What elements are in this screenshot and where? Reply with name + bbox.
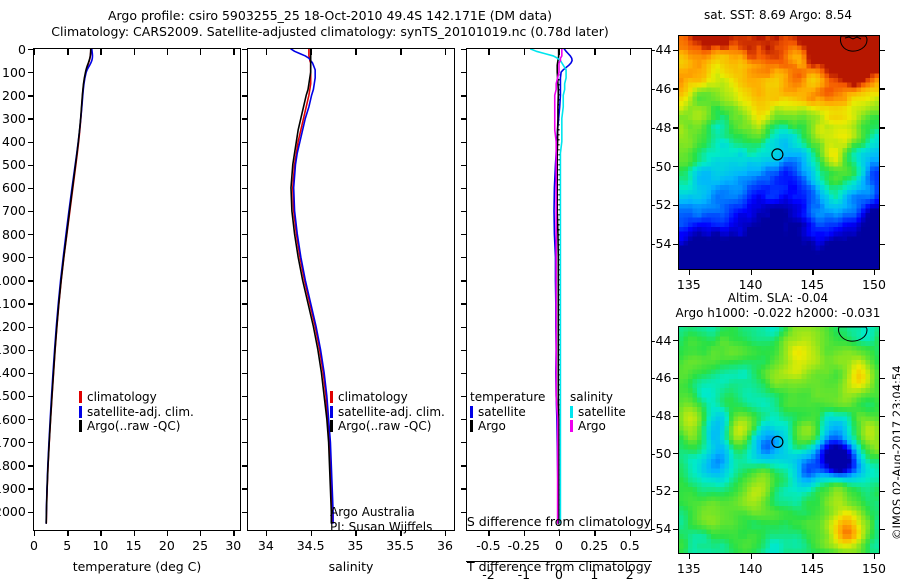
- attribution-pi: PI: Susan Wijffels: [330, 520, 432, 535]
- salinity-profile-panel: [247, 48, 455, 531]
- legend-swatch: [79, 391, 82, 403]
- tick-mark: [134, 530, 135, 536]
- tick-mark: [524, 530, 525, 536]
- pressure-tick-label: 200: [2, 88, 26, 103]
- tick-mark: [630, 49, 631, 55]
- salinity-tick-label: 35.5: [386, 538, 414, 553]
- s-difference-tick-label: 0: [555, 538, 563, 553]
- pressure-tick-label: 900: [2, 250, 26, 265]
- tick-mark: [874, 269, 875, 275]
- legend-item: satellite-adj. clim.: [330, 405, 445, 420]
- tick-mark: [673, 491, 679, 492]
- tick-mark: [673, 244, 679, 245]
- legend-label: Argo(..raw -QC): [338, 419, 431, 434]
- tick-mark: [28, 442, 34, 443]
- tick-mark: [689, 269, 690, 275]
- pressure-tick-label: 1600: [0, 412, 26, 427]
- tick-mark: [689, 553, 690, 559]
- tick-mark: [673, 88, 679, 89]
- legend-item: climatology: [330, 390, 445, 405]
- sla-map-title-line-2: Argo h1000: -0.022 h2000: -0.031: [658, 306, 898, 321]
- legend-swatch: [79, 406, 82, 418]
- tick-mark: [28, 72, 34, 73]
- tick-mark: [28, 396, 34, 397]
- legend-label: satellite-adj. clim.: [338, 405, 445, 420]
- tick-mark: [594, 49, 595, 55]
- tick-mark: [673, 50, 679, 51]
- sst-map-panel: [678, 35, 880, 270]
- sla-map-title: Altim. SLA: -0.04 Argo h1000: -0.022 h20…: [658, 291, 898, 321]
- tick-mark: [812, 553, 813, 559]
- temperature-tick-label: 5: [63, 538, 71, 553]
- tick-mark: [233, 530, 234, 536]
- tick-mark: [445, 49, 446, 55]
- longitude-tick-label: 145: [800, 277, 824, 292]
- tick-mark: [28, 303, 34, 304]
- tick-mark: [28, 373, 34, 374]
- tick-mark: [28, 234, 34, 235]
- t-difference-axis-label: T difference from climatology: [462, 559, 656, 574]
- sla-map-title-line-1: Altim. SLA: -0.04: [658, 291, 898, 306]
- tick-mark: [28, 118, 34, 119]
- tick-mark: [559, 530, 560, 536]
- tick-mark: [874, 553, 875, 559]
- sst-map-title: sat. SST: 8.69 Argo: 8.54: [668, 8, 888, 23]
- tick-mark: [28, 350, 34, 351]
- tick-mark: [445, 530, 446, 536]
- temperature-tick-label: 25: [192, 538, 208, 553]
- longitude-tick-label: 135: [677, 277, 701, 292]
- tick-mark: [673, 340, 679, 341]
- pressure-tick-label: 600: [2, 180, 26, 195]
- temperature-profile-panel: [33, 48, 241, 531]
- legend-label: satellite-adj. clim.: [87, 405, 194, 420]
- temperature-tick-label: 10: [92, 538, 108, 553]
- tick-mark: [233, 49, 234, 55]
- tick-mark: [879, 166, 885, 167]
- salinity-axis-label: salinity: [247, 559, 455, 574]
- pressure-tick-label: 1100: [0, 296, 26, 311]
- tick-mark: [28, 142, 34, 143]
- longitude-tick-label: 140: [739, 561, 763, 576]
- tick-mark: [879, 529, 885, 530]
- s-difference-tick-label: -0.25: [508, 538, 540, 553]
- salinity-legend: climatologysatellite-adj. clim.Argo(..ra…: [330, 390, 445, 434]
- pressure-tick-label: 1800: [0, 458, 26, 473]
- temperature-tick-label: 15: [126, 538, 142, 553]
- tick-mark: [100, 530, 101, 536]
- temperature-tick-label: 0: [30, 538, 38, 553]
- temperature-legend: climatologysatellite-adj. clim.Argo(..ra…: [79, 390, 194, 434]
- tick-mark: [28, 95, 34, 96]
- pressure-tick-label: 800: [2, 227, 26, 242]
- s-difference-tick-label: 0.25: [580, 538, 608, 553]
- pressure-tick-label: 100: [2, 65, 26, 80]
- pressure-tick-label: 1200: [0, 319, 26, 334]
- tick-mark: [879, 205, 885, 206]
- legend-header-salinity: salinity: [570, 390, 626, 405]
- pressure-tick-label: 1700: [0, 435, 26, 450]
- title-line-1: Argo profile: csiro 5903255_25 18-Oct-20…: [0, 8, 660, 24]
- tick-mark: [559, 49, 560, 55]
- legend-item: climatology: [79, 390, 194, 405]
- tick-mark: [28, 465, 34, 466]
- salinity-tick-label: 34.5: [297, 538, 325, 553]
- latitude-tick-label: -54: [651, 236, 671, 251]
- legend-item: Argo(..raw -QC): [79, 419, 194, 434]
- tick-mark: [311, 530, 312, 536]
- latitude-tick-label: -48: [651, 120, 671, 135]
- tick-mark: [311, 49, 312, 55]
- legend-swatch: [79, 420, 82, 432]
- legend-item-sal-satellite: satellite: [570, 405, 626, 420]
- tick-mark: [28, 211, 34, 212]
- title-line-2: Climatology: CARS2009. Satellite-adjuste…: [0, 24, 660, 40]
- tick-mark: [28, 488, 34, 489]
- tick-mark: [34, 49, 35, 55]
- pressure-tick-label: 1000: [0, 273, 26, 288]
- legend-swatch-sal-satellite: [570, 406, 573, 418]
- pressure-tick-label: 1900: [0, 481, 26, 496]
- legend-label-sal-argo: Argo: [578, 419, 606, 434]
- tick-mark: [524, 49, 525, 55]
- latitude-tick-label: -50: [651, 446, 671, 461]
- tick-mark: [28, 257, 34, 258]
- legend-header-temperature: temperature: [470, 390, 545, 405]
- tick-mark: [266, 530, 267, 536]
- tick-mark: [879, 244, 885, 245]
- tick-mark: [879, 88, 885, 89]
- tick-mark: [400, 49, 401, 55]
- copyright-label: ©IMOS 02-Aug-2017 23:04:54: [890, 365, 900, 540]
- legend-item-sal-argo: Argo: [570, 419, 626, 434]
- temperature-tick-label: 20: [159, 538, 175, 553]
- legend-label: climatology: [87, 390, 157, 405]
- pressure-tick-label: 700: [2, 203, 26, 218]
- tick-mark: [28, 419, 34, 420]
- attribution-block: Argo Australia PI: Susan Wijffels: [330, 505, 432, 534]
- longitude-tick-label: 145: [800, 561, 824, 576]
- legend-item-temp-satellite: satellite: [470, 405, 545, 420]
- tick-mark: [28, 188, 34, 189]
- salinity-profile-plot: [248, 49, 454, 530]
- salinity-tick-label: 35: [347, 538, 363, 553]
- tick-mark: [28, 327, 34, 328]
- latitude-tick-label: -50: [651, 159, 671, 174]
- longitude-tick-label: 140: [739, 277, 763, 292]
- tick-mark: [751, 553, 752, 559]
- temperature-profile-plot: [34, 49, 240, 530]
- tick-mark: [630, 530, 631, 536]
- legend-label: climatology: [338, 390, 408, 405]
- salinity-tick-label: 34: [258, 538, 274, 553]
- longitude-tick-label: 135: [677, 561, 701, 576]
- pressure-tick-label: 1400: [0, 365, 26, 380]
- tick-mark: [28, 512, 34, 513]
- tick-mark: [879, 453, 885, 454]
- pressure-tick-label: 500: [2, 157, 26, 172]
- tick-mark: [673, 166, 679, 167]
- latitude-tick-label: -48: [651, 408, 671, 423]
- legend-item-temp-argo: Argo: [470, 419, 545, 434]
- s-difference-tick-label: 0.5: [620, 538, 640, 553]
- legend-swatch: [330, 391, 333, 403]
- tick-mark: [673, 529, 679, 530]
- latitude-tick-label: -46: [651, 81, 671, 96]
- latitude-tick-label: -46: [651, 370, 671, 385]
- latitude-tick-label: -44: [651, 42, 671, 57]
- page-title: Argo profile: csiro 5903255_25 18-Oct-20…: [0, 8, 660, 40]
- tick-mark: [879, 491, 885, 492]
- legend-item: Argo(..raw -QC): [330, 419, 445, 434]
- tick-mark: [167, 49, 168, 55]
- longitude-tick-label: 150: [862, 277, 886, 292]
- tick-mark: [266, 49, 267, 55]
- tick-mark: [879, 127, 885, 128]
- tick-mark: [673, 453, 679, 454]
- tick-mark: [67, 530, 68, 536]
- difference-legend-temperature: temperature satellite Argo: [470, 390, 545, 434]
- tick-mark: [812, 269, 813, 275]
- pressure-tick-label: 1500: [0, 388, 26, 403]
- tick-mark: [594, 530, 595, 536]
- legend-label-sal-satellite: satellite: [578, 405, 626, 420]
- tick-mark: [134, 49, 135, 55]
- pressure-tick-label: 1300: [0, 342, 26, 357]
- tick-mark: [673, 127, 679, 128]
- tick-mark: [879, 340, 885, 341]
- salinity-tick-label: 36: [437, 538, 453, 553]
- sst-map-image: [679, 36, 879, 269]
- tick-mark: [751, 269, 752, 275]
- legend-label: Argo(..raw -QC): [87, 419, 180, 434]
- s-difference-tick-label: -0.5: [476, 538, 500, 553]
- tick-mark: [673, 378, 679, 379]
- temperature-tick-label: 30: [225, 538, 241, 553]
- tick-mark: [879, 378, 885, 379]
- legend-swatch: [330, 406, 333, 418]
- pressure-tick-label: 400: [2, 134, 26, 149]
- legend-swatch-temp-argo: [470, 420, 473, 432]
- legend-label-temp-satellite: satellite: [478, 405, 526, 420]
- tick-mark: [100, 49, 101, 55]
- tick-mark: [673, 205, 679, 206]
- tick-mark: [28, 280, 34, 281]
- tick-mark: [673, 416, 679, 417]
- pressure-tick-label: 300: [2, 111, 26, 126]
- tick-mark: [200, 530, 201, 536]
- difference-profile-panel: [466, 48, 652, 531]
- tick-mark: [879, 50, 885, 51]
- latitude-tick-label: -52: [651, 197, 671, 212]
- tick-mark: [355, 49, 356, 55]
- tick-mark: [28, 49, 34, 50]
- latitude-tick-label: -52: [651, 483, 671, 498]
- latitude-tick-label: -54: [651, 521, 671, 536]
- difference-profile-plot: [467, 49, 651, 530]
- tick-mark: [28, 165, 34, 166]
- tick-mark: [200, 49, 201, 55]
- latitude-tick-label: -44: [651, 333, 671, 348]
- s-difference-axis-label: S difference from climatology: [462, 514, 656, 529]
- attribution-org: Argo Australia: [330, 505, 432, 520]
- legend-swatch-temp-satellite: [470, 406, 473, 418]
- tick-mark: [879, 416, 885, 417]
- difference-legend-salinity: salinity satellite Argo: [570, 390, 626, 434]
- legend-label-temp-argo: Argo: [478, 419, 506, 434]
- legend-swatch-sal-argo: [570, 420, 573, 432]
- tick-mark: [167, 530, 168, 536]
- sla-map-image: [679, 327, 879, 553]
- sla-map-panel: [678, 326, 880, 554]
- tick-mark: [67, 49, 68, 55]
- tick-mark: [488, 49, 489, 55]
- temperature-axis-label: temperature (deg C): [33, 559, 241, 574]
- legend-swatch: [330, 420, 333, 432]
- pressure-tick-label: 0: [18, 42, 26, 57]
- pressure-tick-label: 2000: [0, 504, 26, 519]
- tick-mark: [34, 530, 35, 536]
- longitude-tick-label: 150: [862, 561, 886, 576]
- tick-mark: [488, 530, 489, 536]
- legend-item: satellite-adj. clim.: [79, 405, 194, 420]
